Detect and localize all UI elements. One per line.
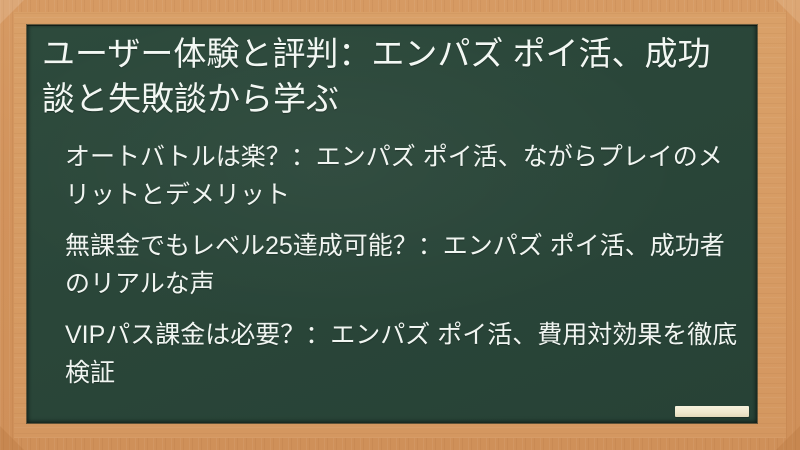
chalk-stick: [675, 406, 749, 417]
list-item[interactable]: オートバトルは楽？：エンパズ ポイ活、ながらプレイのメリットとデメリット: [65, 138, 739, 214]
list-item[interactable]: 無課金でもレベル25達成可能？：エンパズ ポイ活、成功者のリアルな声: [65, 227, 739, 303]
chalkboard: ユーザー体験と評判：エンパズ ポイ活、成功談と失敗談から学ぶ オートバトルは楽？…: [27, 25, 757, 423]
article-list: オートバトルは楽？：エンパズ ポイ活、ながらプレイのメリットとデメリット 無課金…: [37, 138, 739, 392]
chalkboard-content: ユーザー体験と評判：エンパズ ポイ活、成功談と失敗談から学ぶ オートバトルは楽？…: [27, 25, 757, 423]
slide-canvas: ユーザー体験と評判：エンパズ ポイ活、成功談と失敗談から学ぶ オートバトルは楽？…: [0, 0, 800, 450]
page-title: ユーザー体験と評判：エンパズ ポイ活、成功談と失敗談から学ぶ: [37, 31, 739, 121]
list-item[interactable]: VIPパス課金は必要？：エンパズ ポイ活、費用対効果を徹底検証: [65, 316, 739, 392]
